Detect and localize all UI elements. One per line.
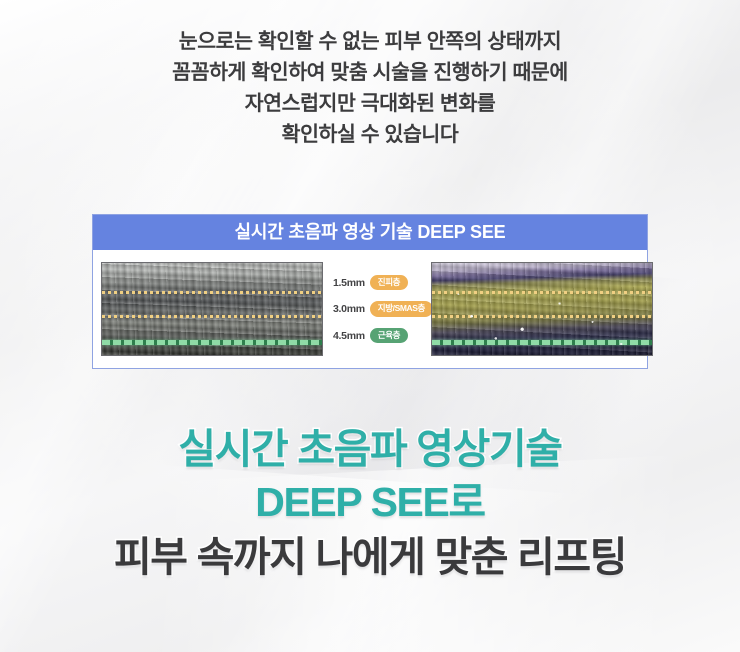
depth-line-1-5mm-right xyxy=(432,291,652,294)
header-line-2: 꼼꼼하게 확인하여 맞춤 시술을 진행하기 때문에 xyxy=(0,57,740,88)
depth-line-1-5mm-left xyxy=(102,291,322,294)
header-line-3: 자연스럽지만 극대화된 변화를 xyxy=(0,88,740,119)
deep-see-panel-row: 1.5mm 진피층 3.0mm 지방/SMAS층 4.5mm 근육층 xyxy=(93,250,647,368)
depth-legend-row-2: 3.0mm 지방/SMAS층 xyxy=(333,301,431,317)
headline-line-1: 실시간 초음파 영상기술 xyxy=(0,424,740,474)
header-paragraph: 눈으로는 확인할 수 없는 피부 안쪽의 상태까지 꼼꼼하게 확인하여 맞춤 시… xyxy=(0,26,740,150)
depth-legend-row-3: 4.5mm 근육층 xyxy=(333,328,431,344)
headline-line-3: 피부 속까지 나에게 맞춘 리프팅 xyxy=(0,530,740,584)
depth-line-3-0mm-right xyxy=(432,315,652,318)
depth-value-4-5mm: 4.5mm xyxy=(333,330,365,342)
grayscale-ultrasound-scan xyxy=(101,262,323,356)
depth-layer-pill-fat-smas: 지방/SMAS층 xyxy=(370,301,433,317)
headline-line-2: DEEP SEE로 xyxy=(0,474,740,530)
depth-legend: 1.5mm 진피층 3.0mm 지방/SMAS층 4.5mm 근육층 xyxy=(323,275,431,344)
depth-value-3-0mm: 3.0mm xyxy=(333,303,365,315)
false-color-ultrasound-scan xyxy=(431,262,653,356)
promo-page: 눈으로는 확인할 수 없는 피부 안쪽의 상태까지 꼼꼼하게 확인하여 맞춤 시… xyxy=(0,0,740,652)
deep-see-card: 실시간 초음파 영상 기술 DEEP SEE 1.5mm 진피층 3.0mm 지… xyxy=(92,214,648,369)
depth-line-4-5mm-left xyxy=(102,340,322,345)
depth-line-3-0mm-left xyxy=(102,315,322,318)
depth-line-4-5mm-right xyxy=(432,340,652,345)
depth-layer-pill-muscle: 근육층 xyxy=(370,328,408,344)
depth-value-1-5mm: 1.5mm xyxy=(333,277,365,289)
depth-legend-row-1: 1.5mm 진피층 xyxy=(333,275,431,291)
promo-headline: 실시간 초음파 영상기술 DEEP SEE로 피부 속까지 나에게 맞춘 리프팅 xyxy=(0,424,740,584)
header-line-4: 확인하실 수 있습니다 xyxy=(0,119,740,150)
deep-see-banner-title: 실시간 초음파 영상 기술 DEEP SEE xyxy=(93,215,647,250)
header-line-1: 눈으로는 확인할 수 없는 피부 안쪽의 상태까지 xyxy=(0,26,740,57)
depth-layer-pill-dermis: 진피층 xyxy=(370,275,408,291)
